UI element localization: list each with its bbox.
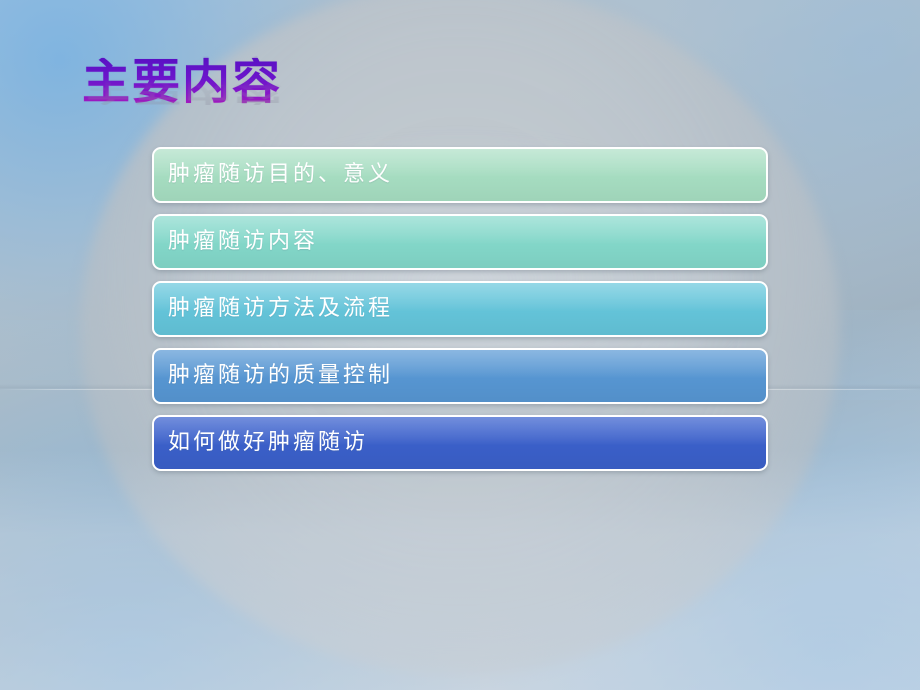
content-bar-list: 肿瘤随访目的、意义 肿瘤随访内容 肿瘤随访方法及流程 肿瘤随访的质量控制 如何做… — [152, 147, 768, 471]
background-bottom-band — [0, 450, 920, 690]
page-title: 主要内容 — [82, 58, 502, 106]
content-bar-label: 肿瘤随访方法及流程 — [154, 298, 393, 320]
content-bar-label: 如何做好肿瘤随访 — [154, 432, 368, 454]
content-bar-label: 肿瘤随访的质量控制 — [154, 365, 393, 387]
content-bar-label: 肿瘤随访内容 — [154, 231, 318, 253]
content-bar-label: 肿瘤随访目的、意义 — [154, 164, 393, 186]
presentation-slide: 主要内容 主要内容 肿瘤随访目的、意义 肿瘤随访内容 肿瘤随访方法及流程 肿瘤随… — [0, 0, 920, 690]
content-bar-4[interactable]: 肿瘤随访的质量控制 — [152, 348, 768, 404]
content-bar-5[interactable]: 如何做好肿瘤随访 — [152, 415, 768, 471]
content-bar-2[interactable]: 肿瘤随访内容 — [152, 214, 768, 270]
content-bar-1[interactable]: 肿瘤随访目的、意义 — [152, 147, 768, 203]
content-bar-3[interactable]: 肿瘤随访方法及流程 — [152, 281, 768, 337]
